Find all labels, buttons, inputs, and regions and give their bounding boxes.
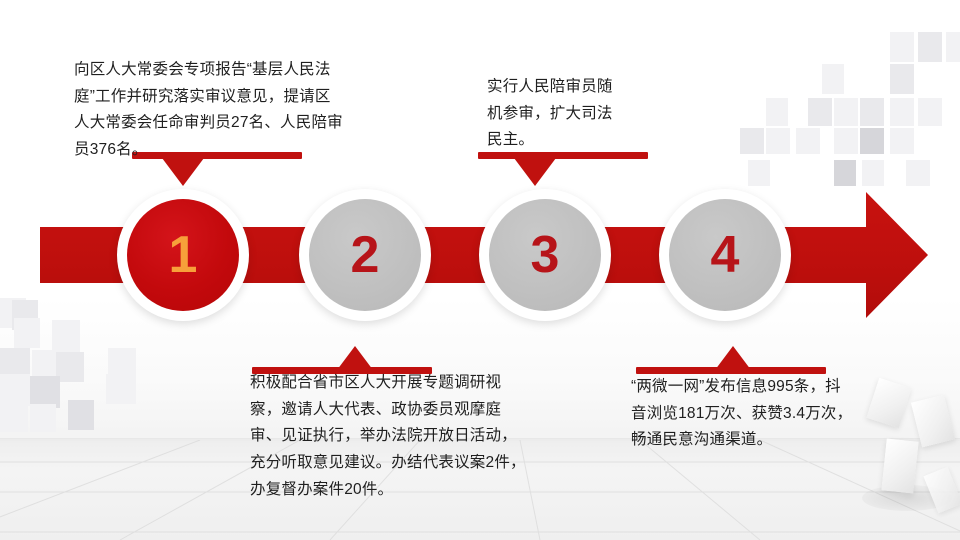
step-node-4[interactable]: 4 <box>659 189 791 321</box>
caption-step-4: “两微一网”发布信息995条，抖 音浏览181万次、获赞3.4万次， 畅通民意沟… <box>631 374 886 454</box>
infographic-canvas: 1 2 3 4 向区人大常委会专项报告“基层人民法 庭”工作并研究落实审议意见，… <box>0 0 960 540</box>
floating-paper <box>881 438 918 493</box>
step-number-4: 4 <box>669 199 781 311</box>
step-number-3: 3 <box>489 199 601 311</box>
caption-step-3: 实行人民陪审员随 机参审，扩大司法 民主。 <box>487 74 652 154</box>
connector-step-3 <box>478 152 648 192</box>
step-number-1: 1 <box>127 199 239 311</box>
caption-step-2: 积极配合省市区人大开展专题调研视 察，邀请人大代表、政协委员观摩庭 审、见证执行… <box>250 370 540 503</box>
step-number-2: 2 <box>309 199 421 311</box>
step-node-3[interactable]: 3 <box>479 189 611 321</box>
step-node-2[interactable]: 2 <box>299 189 431 321</box>
step-node-1[interactable]: 1 <box>117 189 249 321</box>
caption-step-1: 向区人大常委会专项报告“基层人民法 庭”工作并研究落实审议意见，提请区 人大常委… <box>74 57 384 164</box>
